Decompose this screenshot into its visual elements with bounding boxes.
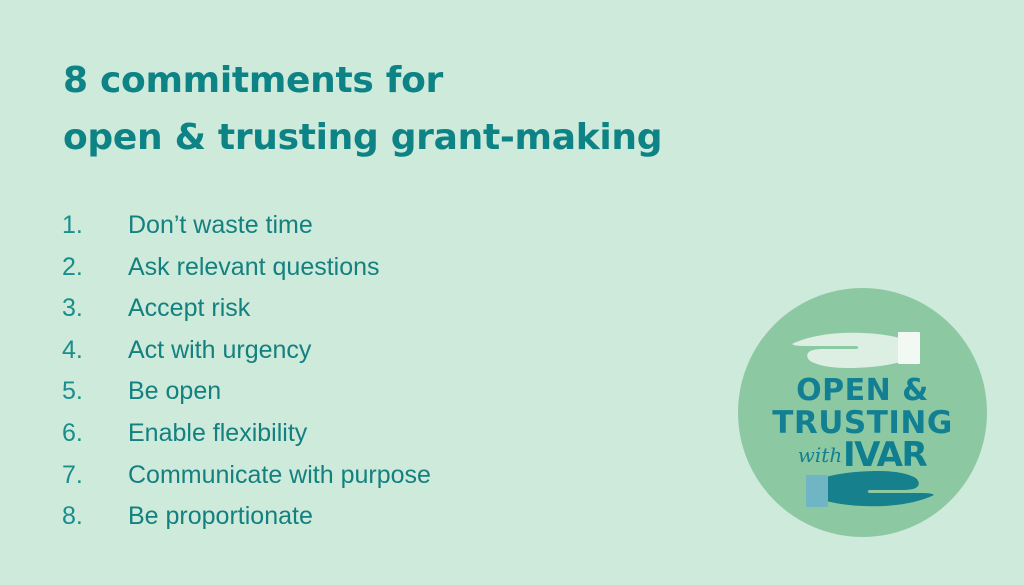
list-item: 6. Enable flexibility [62, 413, 712, 455]
list-item-number: 6. [62, 413, 128, 455]
list-item-number: 5. [62, 371, 128, 413]
list-item-number: 3. [62, 288, 128, 330]
title-line-2: open & trusting grant-making [63, 109, 763, 166]
bottom-hand-cuff [806, 475, 828, 507]
list-item: 5. Be open [62, 371, 712, 413]
list-item: 4. Act with urgency [62, 330, 712, 372]
list-item-number: 2. [62, 247, 128, 289]
logo-line-with: with [798, 443, 842, 467]
list-item: 2. Ask relevant questions [62, 247, 712, 289]
list-item-label: Accept risk [128, 288, 250, 330]
list-item: 1. Don’t waste time [62, 205, 712, 247]
list-item-number: 8. [62, 496, 128, 538]
slide-canvas: 8 commitments for open & trusting grant-… [0, 0, 1024, 585]
logo-line-open: OPEN & [796, 373, 929, 408]
list-item-label: Be open [128, 371, 221, 413]
list-item: 8. Be proportionate [62, 496, 712, 538]
list-item: 7. Communicate with purpose [62, 455, 712, 497]
list-item-number: 1. [62, 205, 128, 247]
top-hand-cuff [898, 332, 920, 364]
commitments-list: 1. Don’t waste time 2. Ask relevant ques… [62, 205, 712, 538]
list-item-label: Ask relevant questions [128, 247, 380, 289]
list-item-label: Communicate with purpose [128, 455, 431, 497]
page-title: 8 commitments for open & trusting grant-… [63, 52, 763, 166]
list-item-label: Act with urgency [128, 330, 311, 372]
list-item: 3. Accept risk [62, 288, 712, 330]
list-item-label: Enable flexibility [128, 413, 307, 455]
list-item-label: Be proportionate [128, 496, 313, 538]
title-line-1: 8 commitments for [63, 52, 763, 109]
logo-line-ivar: IVAR [843, 435, 927, 475]
list-item-label: Don’t waste time [128, 205, 313, 247]
list-item-number: 7. [62, 455, 128, 497]
open-trusting-ivar-logo: OPEN & TRUSTING with IVAR [738, 288, 987, 537]
list-item-number: 4. [62, 330, 128, 372]
